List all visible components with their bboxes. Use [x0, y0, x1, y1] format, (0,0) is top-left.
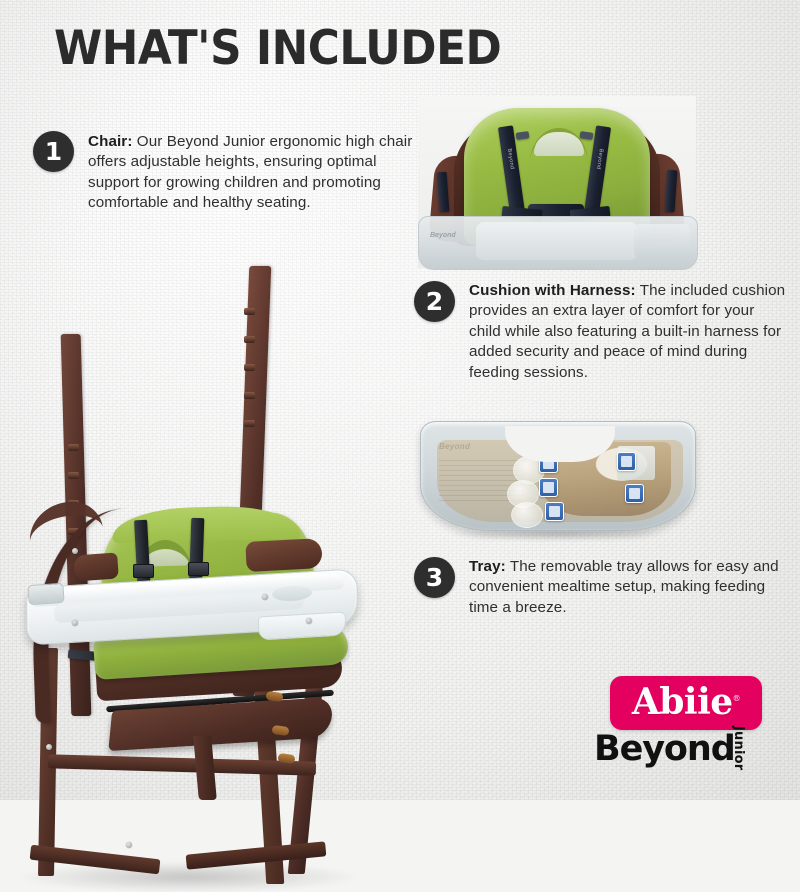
brand-name: Abiie® — [632, 684, 740, 723]
chair-screw — [306, 618, 312, 624]
chair-notch — [68, 444, 79, 451]
number-badge-2: 2 — [414, 281, 455, 322]
brand-logo: Abiie® Beyond Junior — [588, 676, 778, 780]
list-item-3: 3 Tray: The removable tray allows for ea… — [414, 557, 786, 618]
cushion-photo-tray-label: Beyond — [430, 224, 492, 240]
chair-screw — [126, 842, 132, 848]
tray-feature-badge — [539, 478, 558, 497]
chair-harness-buckle-left — [133, 564, 154, 578]
brand-name-text: Abiie — [632, 681, 733, 723]
list-item-1-text: Chair: Our Beyond Junior ergonomic high … — [88, 132, 413, 214]
brand-logo-badge: Abiie® — [610, 676, 762, 730]
list-item-2: 2 Cushion with Harness: The included cus… — [414, 281, 790, 383]
chair-notch — [244, 364, 255, 371]
cushion-strap-label: Beyond — [506, 149, 515, 171]
chair-tray-side-clip — [27, 583, 64, 605]
tray-label-circle — [511, 502, 543, 528]
product-photo-tray: Beyond — [418, 415, 696, 537]
chair-notch — [68, 472, 79, 479]
cushion-photo-tray-well — [476, 222, 638, 260]
chair-tray-front-lip — [258, 611, 346, 640]
tray-brand-label: Beyond — [439, 442, 470, 451]
list-item-1-body: Our Beyond Junior ergonomic high chair o… — [88, 133, 412, 211]
brand-product-line: Beyond — [594, 732, 735, 767]
list-item-2-text: Cushion with Harness: The included cushi… — [469, 281, 790, 383]
chair-armrest-left — [73, 552, 119, 581]
tray-feature-badge — [625, 484, 644, 503]
chair-screw — [46, 744, 52, 750]
cushion-photo-tray-right-well — [634, 224, 690, 258]
tray-brand-text: Beyond — [430, 232, 456, 239]
chair-notch — [244, 336, 255, 343]
chair-notch — [244, 420, 255, 427]
product-photo-cushion-harness: Beyond Beyond Beyond — [418, 96, 696, 268]
cushion-strap-label: Beyond — [595, 149, 604, 171]
list-item-2-heading: Cushion with Harness: — [469, 282, 636, 299]
list-item-1-heading: Chair: — [88, 133, 132, 150]
brand-product-sub: Junior — [731, 726, 746, 770]
list-item-1: 1 Chair: Our Beyond Junior ergonomic hig… — [33, 131, 413, 214]
chair-harness-buckle-right — [188, 562, 209, 576]
chair-screw — [262, 594, 268, 600]
chair-notch — [244, 308, 255, 315]
chair-screw — [72, 548, 78, 554]
product-photo-chair — [10, 248, 385, 718]
list-item-3-text: Tray: The removable tray allows for easy… — [469, 557, 786, 618]
chair-notch — [244, 392, 255, 399]
number-badge-1: 1 — [33, 131, 74, 172]
list-item-3-heading: Tray: — [469, 558, 506, 575]
tray-body: Beyond — [420, 421, 696, 531]
tray-feature-badge — [545, 502, 564, 521]
list-item-3-body: The removable tray allows for easy and c… — [469, 558, 779, 616]
registered-mark: ® — [733, 694, 741, 703]
chair-armrest-right — [245, 538, 322, 572]
chair-screw — [72, 620, 78, 626]
tray-feature-badge — [617, 452, 636, 471]
number-badge-3: 3 — [414, 557, 455, 598]
page-title: WHAT'S INCLUDED — [54, 25, 501, 72]
